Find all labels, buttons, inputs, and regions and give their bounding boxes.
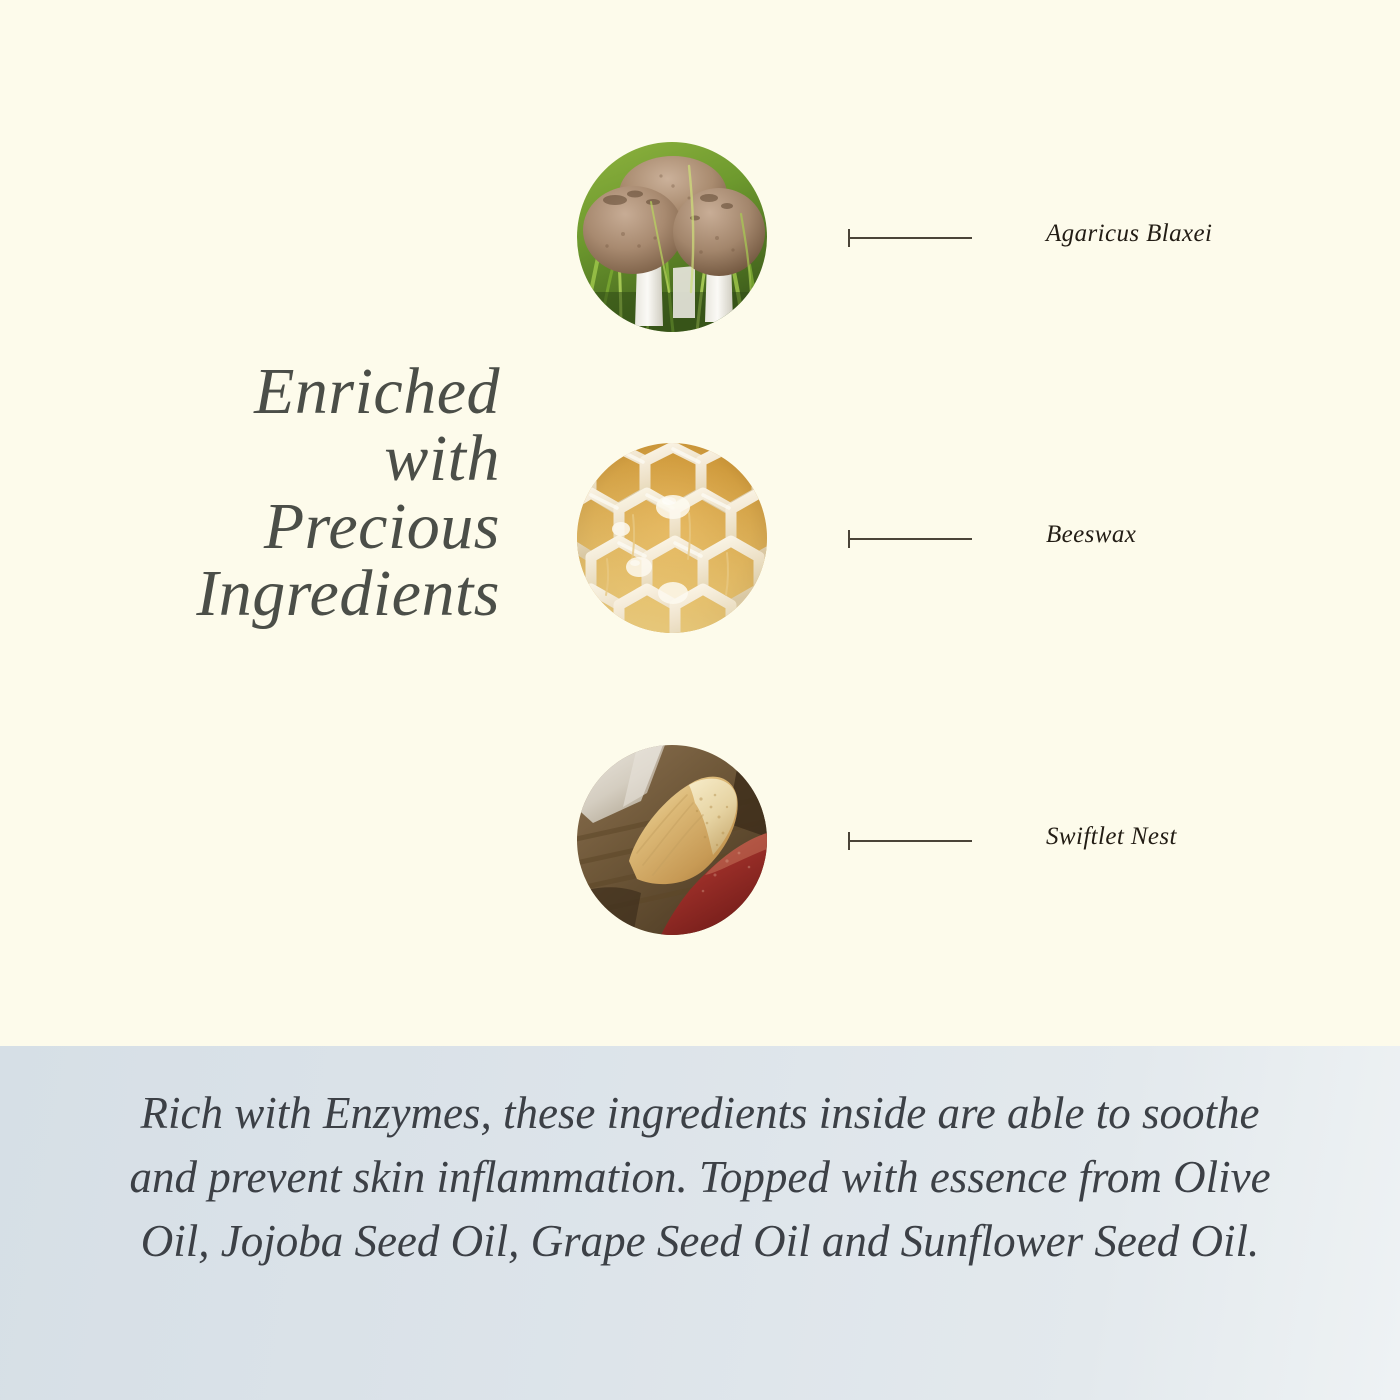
description-paragraph: Rich with Enzymes, these ingredients ins… [118,1082,1282,1274]
ingredient-label: Swiftlet Nest [1046,823,1366,851]
mushroom-photo [577,142,767,332]
connector-line [848,832,972,850]
ingredients-infographic: Enriched with Precious Ingredients [0,0,1400,1400]
swiftlet-nest-photo [577,745,767,935]
ingredient-row: Agaricus Blaxei [0,142,1400,332]
connector-line [848,229,972,247]
connector-rule [848,237,972,239]
honeycomb-photo [577,443,767,633]
connector-rule [848,538,972,540]
ingredient-label: Agaricus Blaxei [1046,220,1366,248]
connector-line [848,530,972,548]
ingredient-row: Swiftlet Nest [0,745,1400,935]
ingredient-row: Beeswax [0,443,1400,633]
ingredient-label: Beeswax [1046,521,1366,549]
connector-rule [848,840,972,842]
